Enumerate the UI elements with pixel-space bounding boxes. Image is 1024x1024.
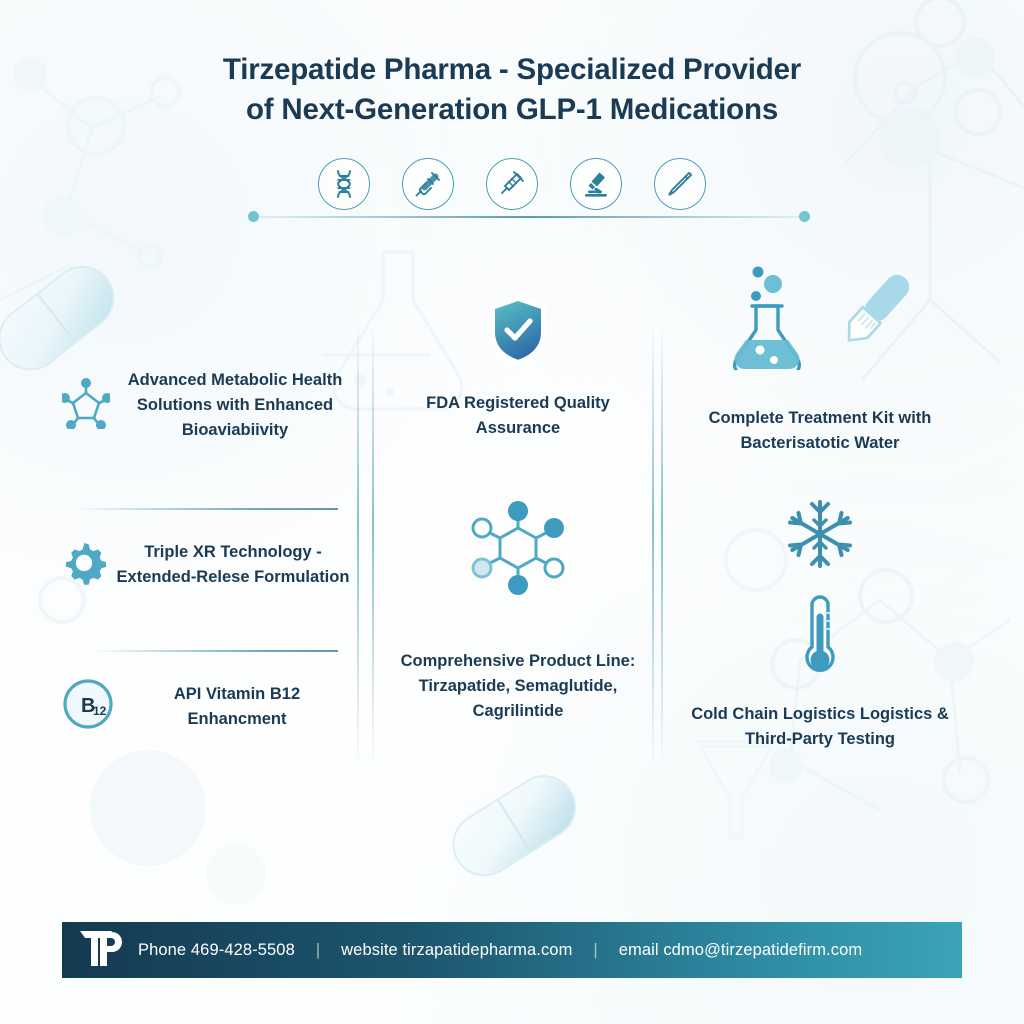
icon-strip bbox=[0, 158, 1024, 210]
left-separator-1 bbox=[78, 508, 338, 510]
column-divider-left-inner bbox=[372, 330, 374, 760]
capsule-decoration-top-left bbox=[0, 254, 126, 382]
right-item-2-text: Cold Chain Logistics Logistics & Third-P… bbox=[670, 702, 970, 752]
footer-website[interactable]: website tirzapatidepharma.com bbox=[341, 941, 572, 960]
column-divider-left-outer bbox=[357, 330, 359, 760]
rule-dot-right bbox=[799, 211, 810, 222]
right-column-item-1: Complete Treatment Kit with Bacterisatot… bbox=[670, 262, 970, 456]
soft-circle-bottom-left bbox=[90, 750, 206, 866]
infographic-poster: Tirzepatide Pharma - Specialized Provide… bbox=[0, 0, 1024, 1024]
b12-badge-icon: B 12 bbox=[62, 678, 114, 735]
flask-icon bbox=[728, 262, 806, 375]
tp-monogram-logo bbox=[78, 927, 124, 974]
syringe-icon bbox=[402, 158, 454, 210]
title-line-1: Tirzepatide Pharma - Specialized Provide… bbox=[0, 50, 1024, 90]
snowflake-icon bbox=[670, 498, 970, 575]
left-item-2-text: Triple XR Technology - Extended-Relese F… bbox=[116, 540, 350, 590]
shield-check-icon bbox=[382, 294, 654, 371]
footer-phone: Phone 469-428-5508 bbox=[138, 941, 295, 960]
center-item-1-text: FDA Registered Quality Assurance bbox=[382, 391, 654, 441]
header-divider-rule bbox=[253, 216, 805, 218]
left-separator-2 bbox=[96, 650, 338, 652]
injector-pen-icon bbox=[654, 158, 706, 210]
footer-separator-1: | bbox=[309, 941, 327, 960]
left-column-item-3: B 12 API Vitamin B12 Enhancment bbox=[62, 678, 350, 735]
thermometer-icon bbox=[670, 591, 970, 684]
syringe-vial-icon bbox=[486, 158, 538, 210]
capsule-decoration-bottom-center bbox=[442, 765, 587, 888]
soft-circle-bottom-left-2 bbox=[206, 844, 266, 904]
left-item-1-text: Advanced Metabolic Health Solutions with… bbox=[120, 368, 350, 443]
svg-text:12: 12 bbox=[93, 704, 107, 718]
left-column-item-2: Triple XR Technology - Extended-Relese F… bbox=[62, 540, 350, 590]
page-title: Tirzepatide Pharma - Specialized Provide… bbox=[0, 50, 1024, 130]
hexagon-molecule-icon bbox=[382, 500, 654, 601]
title-line-2: of Next-Generation GLP-1 Medications bbox=[0, 90, 1024, 130]
dna-helix-icon bbox=[318, 158, 370, 210]
left-item-3-text: API Vitamin B12 Enhancment bbox=[124, 682, 350, 732]
footer-bar: Phone 469-428-5508 | website tirzapatide… bbox=[62, 922, 962, 978]
center-column-item-2: Comprehensive Product Line: Tirzapatide,… bbox=[382, 500, 654, 724]
molecule-star-icon bbox=[62, 377, 110, 434]
left-column-item-1: Advanced Metabolic Health Solutions with… bbox=[62, 368, 350, 443]
center-column-item-1: FDA Registered Quality Assurance bbox=[382, 294, 654, 441]
footer-separator-2: | bbox=[586, 941, 604, 960]
column-divider-right-outer bbox=[661, 330, 663, 760]
right-item-1-text: Complete Treatment Kit with Bacterisatot… bbox=[670, 406, 970, 456]
center-item-2-text: Comprehensive Product Line: Tirzapatide,… bbox=[382, 649, 654, 724]
right-column-item-2: Cold Chain Logistics Logistics & Third-P… bbox=[670, 498, 970, 752]
microscope-icon bbox=[570, 158, 622, 210]
thermometer-tilted-icon bbox=[838, 268, 912, 357]
gear-icon bbox=[62, 541, 106, 590]
beaker-watermark bbox=[694, 742, 778, 838]
rule-dot-left bbox=[248, 211, 259, 222]
footer-email[interactable]: email cdmo@tirzepatidefirm.com bbox=[619, 941, 862, 960]
